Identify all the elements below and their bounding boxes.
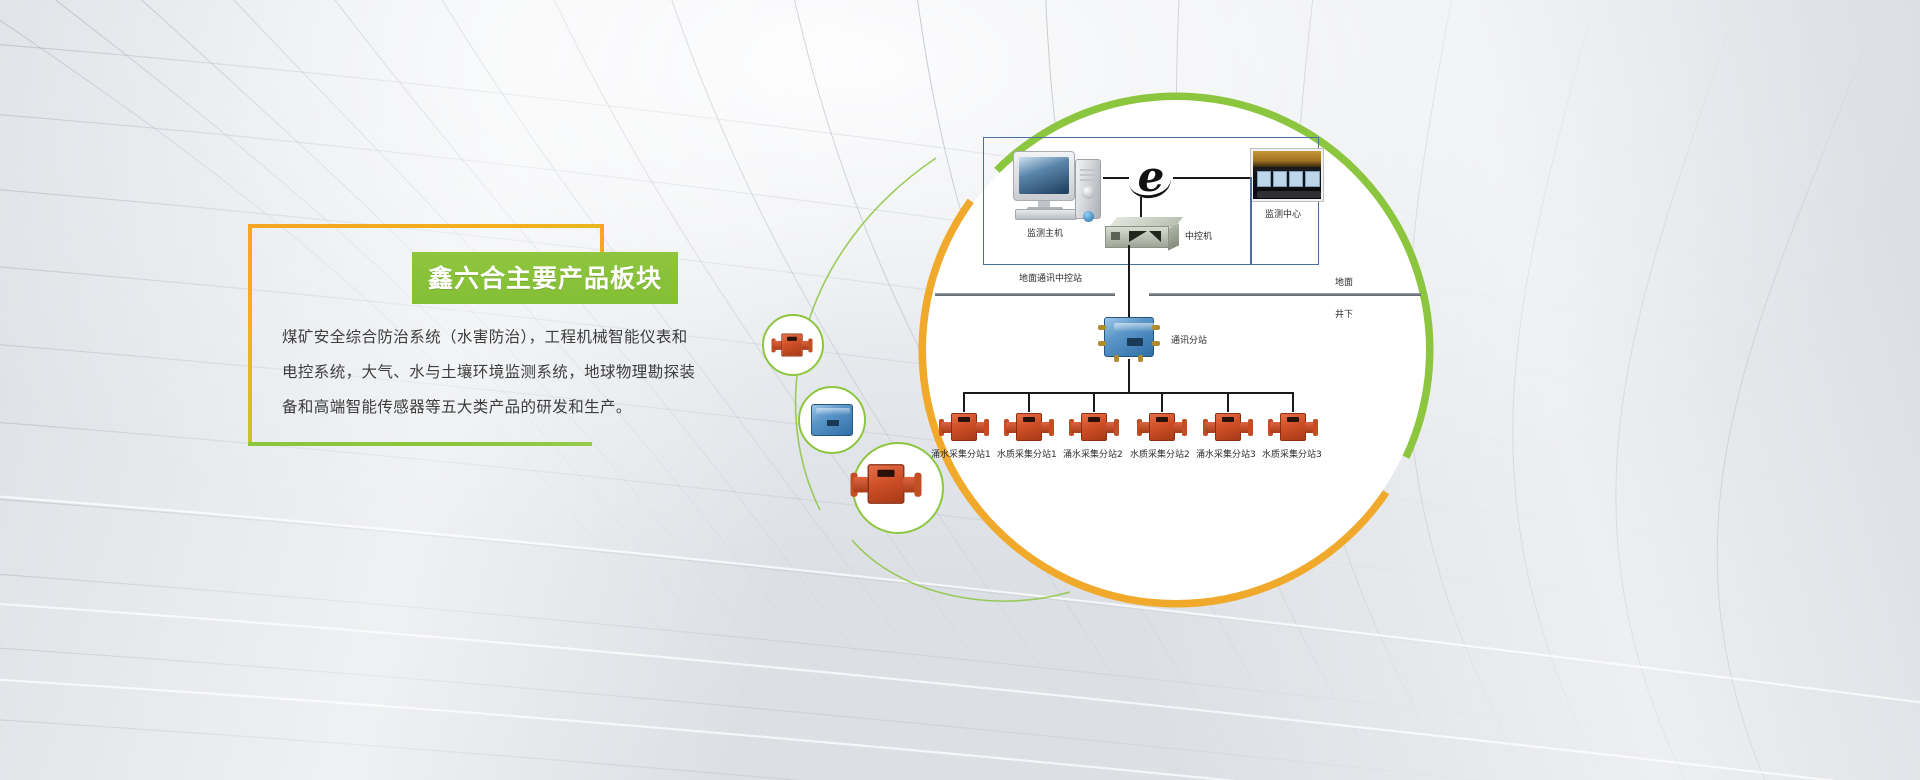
collector-label-4: 水质采集分站2 — [1130, 447, 1190, 460]
rack-server-icon — [1105, 217, 1179, 251]
wire-host-to-internet — [1103, 177, 1129, 179]
wire-drop-6 — [1292, 392, 1294, 412]
collector-label-3: 涌水采集分站2 — [1063, 447, 1123, 460]
red-water-sensor-icon — [1139, 411, 1185, 443]
product-intro-panel: 鑫六合主要产品板块 煤矿安全综合防治系统（水害防治），工程机械智能仪表和 电控系… — [248, 224, 600, 442]
description-line-1: 煤矿安全综合防治系统（水害防治），工程机械智能仪表和 — [282, 320, 706, 355]
red-water-sensor-icon — [1071, 411, 1117, 443]
product-description: 煤矿安全综合防治系统（水害防治），工程机械智能仪表和 电控系统，大气、水与土壤环… — [282, 320, 706, 425]
underground-label: 井下 — [1335, 307, 1353, 320]
floating-bubble-1 — [762, 314, 824, 376]
control-machine-label: 中控机 — [1185, 229, 1212, 242]
red-water-sensor-icon — [941, 411, 987, 443]
collector-label-2: 水质采集分站1 — [997, 447, 1057, 460]
wire-collector-bus — [963, 392, 1293, 394]
red-water-sensor-icon — [1006, 411, 1052, 443]
blue-junction-box-icon — [811, 404, 853, 436]
collector-label-1: 涌水采集分站1 — [931, 447, 991, 460]
control-room-photo-icon — [1251, 149, 1323, 201]
collector-label-5: 涌水采集分站3 — [1196, 447, 1256, 460]
desktop-computer-icon — [1013, 151, 1101, 223]
collector-label-6: 水质采集分站3 — [1262, 447, 1322, 460]
wire-internet-to-center — [1173, 177, 1251, 179]
blue-junction-box-icon — [1098, 315, 1160, 359]
system-architecture-illustration: 监测主机 e 监测中心 中控机 地面通讯中控站 地面 — [740, 40, 1920, 780]
surface-station-label: 地面通讯中控站 — [1019, 271, 1082, 284]
page-title-banner: 鑫六合主要产品板块 — [412, 252, 678, 304]
description-line-2: 电控系统，大气、水与土壤环境监测系统，地球物理勘探装 — [282, 355, 706, 390]
comm-substation-label: 通讯分站 — [1171, 333, 1207, 346]
mine-water-monitoring-diagram: 监测主机 e 监测中心 中控机 地面通讯中控站 地面 — [935, 125, 1425, 555]
description-line-3: 备和高端智能传感器等五大类产品的研发和生产。 — [282, 390, 706, 425]
ground-line-gap — [1115, 291, 1149, 298]
wire-drop-1 — [963, 392, 965, 412]
wire-center-down — [1250, 177, 1252, 265]
frame-bottom-edge — [248, 442, 592, 446]
ground-divider-line — [935, 293, 1421, 296]
floating-bubble-2 — [798, 386, 866, 454]
red-water-sensor-icon — [1270, 411, 1316, 443]
wire-drop-4 — [1161, 392, 1163, 412]
red-water-sensor-icon — [773, 332, 811, 358]
wire-control-to-substation — [1128, 245, 1130, 317]
internet-e-icon: e — [1128, 155, 1174, 201]
wire-internet-to-control — [1140, 197, 1142, 219]
red-water-sensor-icon — [1205, 411, 1251, 443]
monitor-host-label: 监测主机 — [1027, 226, 1063, 239]
wire-drop-5 — [1227, 392, 1229, 412]
surface-label: 地面 — [1335, 275, 1353, 288]
monitor-center-label: 监测中心 — [1265, 207, 1301, 220]
wire-drop-3 — [1093, 392, 1095, 412]
wire-substation-trunk — [1128, 359, 1130, 393]
wire-drop-2 — [1028, 392, 1030, 412]
red-water-sensor-icon — [853, 461, 918, 506]
page-title: 鑫六合主要产品板块 — [428, 264, 662, 293]
